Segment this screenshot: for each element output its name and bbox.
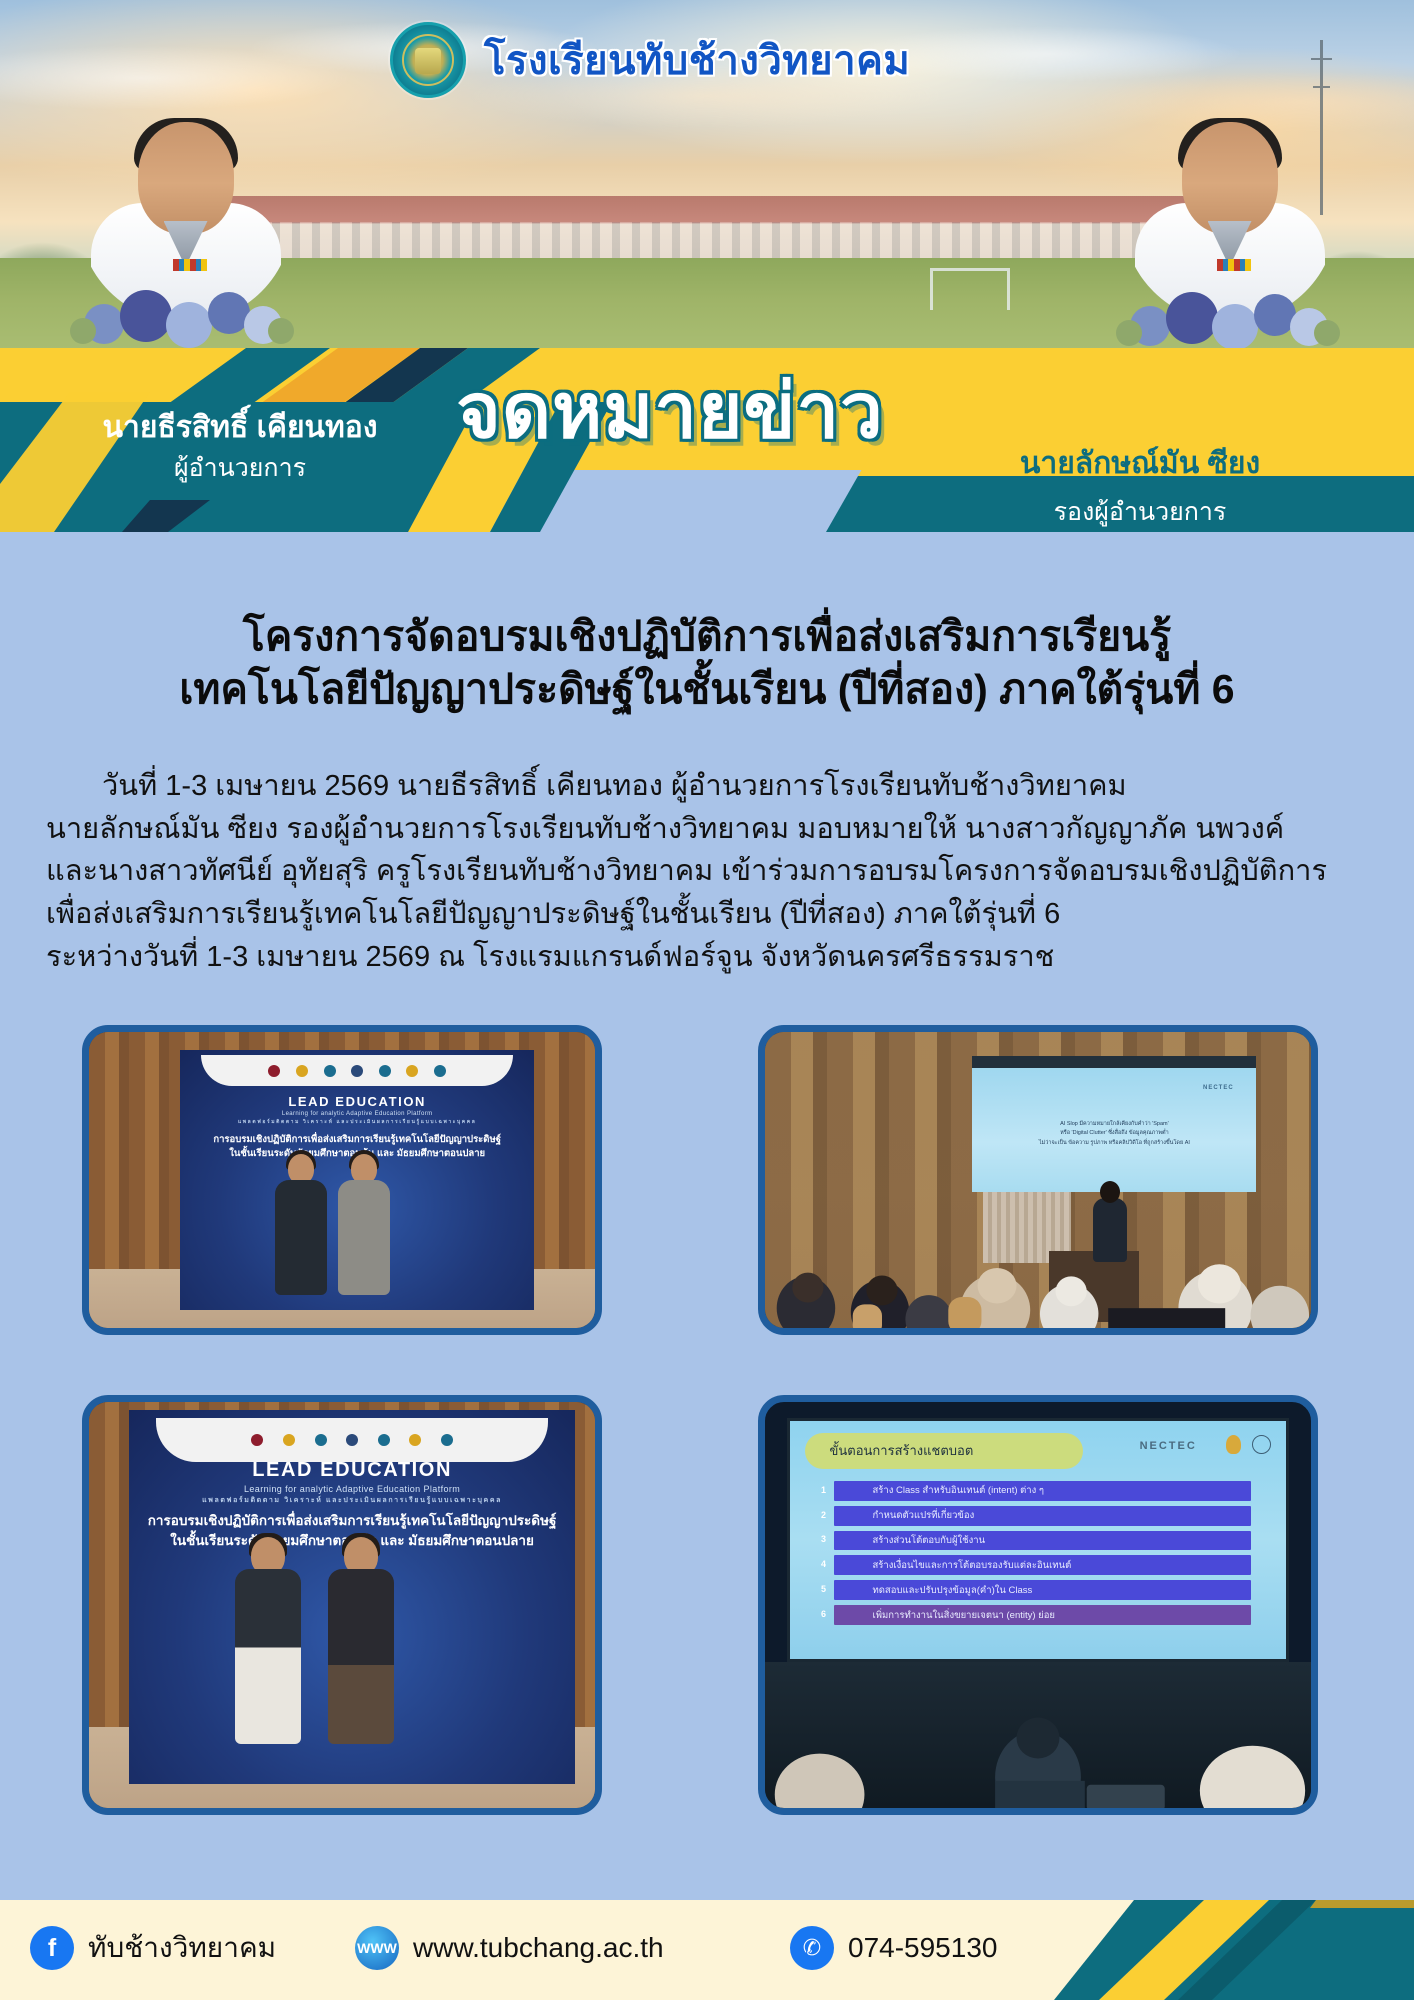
facebook-label: ทับช้างวิทยาคม [88,1926,276,1970]
phone-label: 074-595130 [848,1932,997,1964]
sponsor-logo-icon [378,1434,390,1446]
director-name: นายธีรสิทธิ์ เคียนทอง [0,404,480,451]
step-number: 5 [808,1579,838,1599]
slide-step: 6เพิ่มการทำงานในสิ่งขยายเจตนา (entity) ย… [834,1605,1251,1625]
headline-line-2: เทคโนโลยีปัญญาประดิษฐ์ในชั้นเรียน (ปีที่… [60,663,1354,716]
sponsor-logo-icon [379,1065,391,1077]
photo-chatbot-slide[interactable]: ขั้นตอนการสร้างแชตบอต NECTEC 1สร้าง Clas… [758,1395,1318,1815]
newsletter-page: โรงเรียนทับช้างวิทยาคม [0,0,1414,2000]
sponsor-logo-icon [406,1065,418,1077]
body-line-4: เพื่อส่งเสริมการเรียนรู้เทคโนโลยีปัญญาปร… [46,893,1376,936]
footer-phone[interactable]: ✆ 074-595130 [790,1926,997,1970]
body-line-5: ระหว่างวันที่ 1-3 เมษายน 2569 ณ โรงแรมแก… [46,936,1376,979]
slide-step: 5ทดสอบและปรับปรุงข้อมูล(คำ)ใน Class [834,1580,1251,1600]
sponsor-logo-icon [283,1434,295,1446]
school-name: โรงเรียนทับช้างวิทยาคม [484,28,910,92]
backdrop-title: LEAD EDUCATION Learning for analytic Ada… [180,1094,534,1126]
photo-gallery: LEAD EDUCATION Learning for analytic Ada… [0,1005,1414,1900]
slide-heading: ขั้นตอนการสร้างแชตบอต [805,1433,1083,1469]
chatbot-slide: ขั้นตอนการสร้างแชตบอต NECTEC 1สร้าง Clas… [787,1418,1289,1662]
backdrop-subtitle-th: แพลตฟอร์มติดตาม วิเคราะห์ และประเมินผลกา… [129,1495,574,1506]
step-number: 3 [808,1530,838,1550]
audience [765,1239,1311,1328]
lead-education-backdrop: LEAD EDUCATION Learning for analytic Ada… [129,1410,574,1784]
sponsor-logo-strip [201,1055,513,1086]
article-headline: โครงการจัดอบรมเชิงปฏิบัติการเพื่อส่งเสริ… [60,610,1354,717]
sponsor-logo-icon [409,1434,421,1446]
facebook-icon: f [30,1926,74,1970]
sponsor-logo-icon [346,1434,358,1446]
sponsor-logo-strip [156,1418,548,1463]
backdrop-subtitle: Learning for analytic Adaptive Education… [180,1111,534,1117]
face [1182,122,1278,234]
slide-step: 2กำหนดตัวแปรที่เกี่ยวข้อง [834,1506,1251,1526]
photo-seminar-room[interactable]: NECTEC AI Slop มีความหมายใกล้เคียงกับคำว… [758,1025,1318,1335]
school-seal-icon [390,22,466,98]
sponsor-logo-icon [268,1065,280,1077]
floral-decoration-right [1108,272,1358,358]
backdrop-subtitle-th: แพลตฟอร์มติดตาม วิเคราะห์ และประเมินผลกา… [180,1118,534,1126]
sponsor-logo-icon [324,1065,336,1077]
director-position: ผู้อำนวยการ [0,448,480,488]
photo-group-backdrop-2[interactable]: LEAD EDUCATION Learning for analytic Ada… [82,1395,602,1815]
body-line-3: และนางสาวทัศนีย์ อุทัยสุริ ครูโรงเรียนทั… [46,850,1376,893]
lead-education-backdrop: LEAD EDUCATION Learning for analytic Ada… [180,1050,534,1310]
photo-group-backdrop-1[interactable]: LEAD EDUCATION Learning for analytic Ada… [82,1025,602,1335]
footer-facebook[interactable]: f ทับช้างวิทยาคม [30,1926,276,1970]
website-label: www.tubchang.ac.th [413,1932,664,1964]
phone-icon: ✆ [790,1926,834,1970]
goal-post [930,268,1010,310]
sponsor-logo-icon [251,1434,263,1446]
step-number: 1 [808,1480,838,1500]
headline-line-1: โครงการจัดอบรมเชิงปฏิบัติการเพื่อส่งเสริ… [60,610,1354,663]
brand-row: โรงเรียนทับช้างวิทยาคม [390,22,910,98]
sponsor-logo-icon [315,1434,327,1446]
footer-website[interactable]: WWW www.tubchang.ac.th [355,1926,664,1970]
article-body: วันที่ 1-3 เมษายน 2569 นายธีรสิทธิ์ เคีย… [46,765,1376,978]
backdrop-title: LEAD EDUCATION Learning for analytic Ada… [129,1459,574,1506]
sponsor-logo-icon [351,1065,363,1077]
body-line-1: วันที่ 1-3 เมษายน 2569 นายธีรสิทธิ์ เคีย… [46,765,1376,808]
nectec-logo-icon: NECTEC [1140,1440,1197,1452]
footer-corner-decoration [1054,1900,1414,2000]
face [138,122,234,234]
step-number: 2 [808,1505,838,1525]
sponsor-logo-icon [296,1065,308,1077]
backdrop-subtitle: Learning for analytic Adaptive Education… [129,1484,574,1494]
atom-logo-icon [1252,1435,1271,1454]
deputy-name: นายลักษณ์มัน ซียง [890,440,1390,487]
globe-icon: WWW [355,1926,399,1970]
audience-silhouettes [765,1662,1311,1808]
sponsor-logo-icon [441,1434,453,1446]
slide-step: 1สร้าง Class สำหรับอินเทนต์ (intent) ต่า… [834,1481,1251,1501]
step-number: 4 [808,1554,838,1574]
body-line-2: นายลักษณ์มัน ซียง รองผู้อำนวยการโรงเรียน… [46,808,1376,851]
director-nameplate: นายธีรสิทธิ์ เคียนทอง ผู้อำนวยการ [0,404,520,524]
nectec-logo-icon: NECTEC [1203,1085,1234,1091]
medal-ribbon [1217,259,1251,271]
royal-emblem-icon [1226,1435,1241,1454]
school-building [160,196,1260,266]
slide-step: 4สร้างเงื่อนไขและการโต้ตอบรองรับแต่ละอิน… [834,1555,1251,1575]
slide-text: AI Slop มีความหมายใกล้เคียงกับคำว่า 'Spa… [995,1120,1233,1148]
sponsor-logo-icon [434,1065,446,1077]
dark-room [765,1662,1311,1808]
floral-decoration-left [62,270,312,356]
projection-screen: NECTEC AI Slop มีความหมายใกล้เคียงกับคำว… [972,1056,1256,1192]
deputy-nameplate: นายลักษณ์มัน ซียง รองผู้อำนวยการ [890,440,1414,560]
step-number: 6 [808,1604,838,1624]
deputy-position: รองผู้อำนวยการ [890,492,1390,532]
slide-step: 3สร้างส่วนโต้ตอบกับผู้ใช้งาน [834,1531,1251,1551]
